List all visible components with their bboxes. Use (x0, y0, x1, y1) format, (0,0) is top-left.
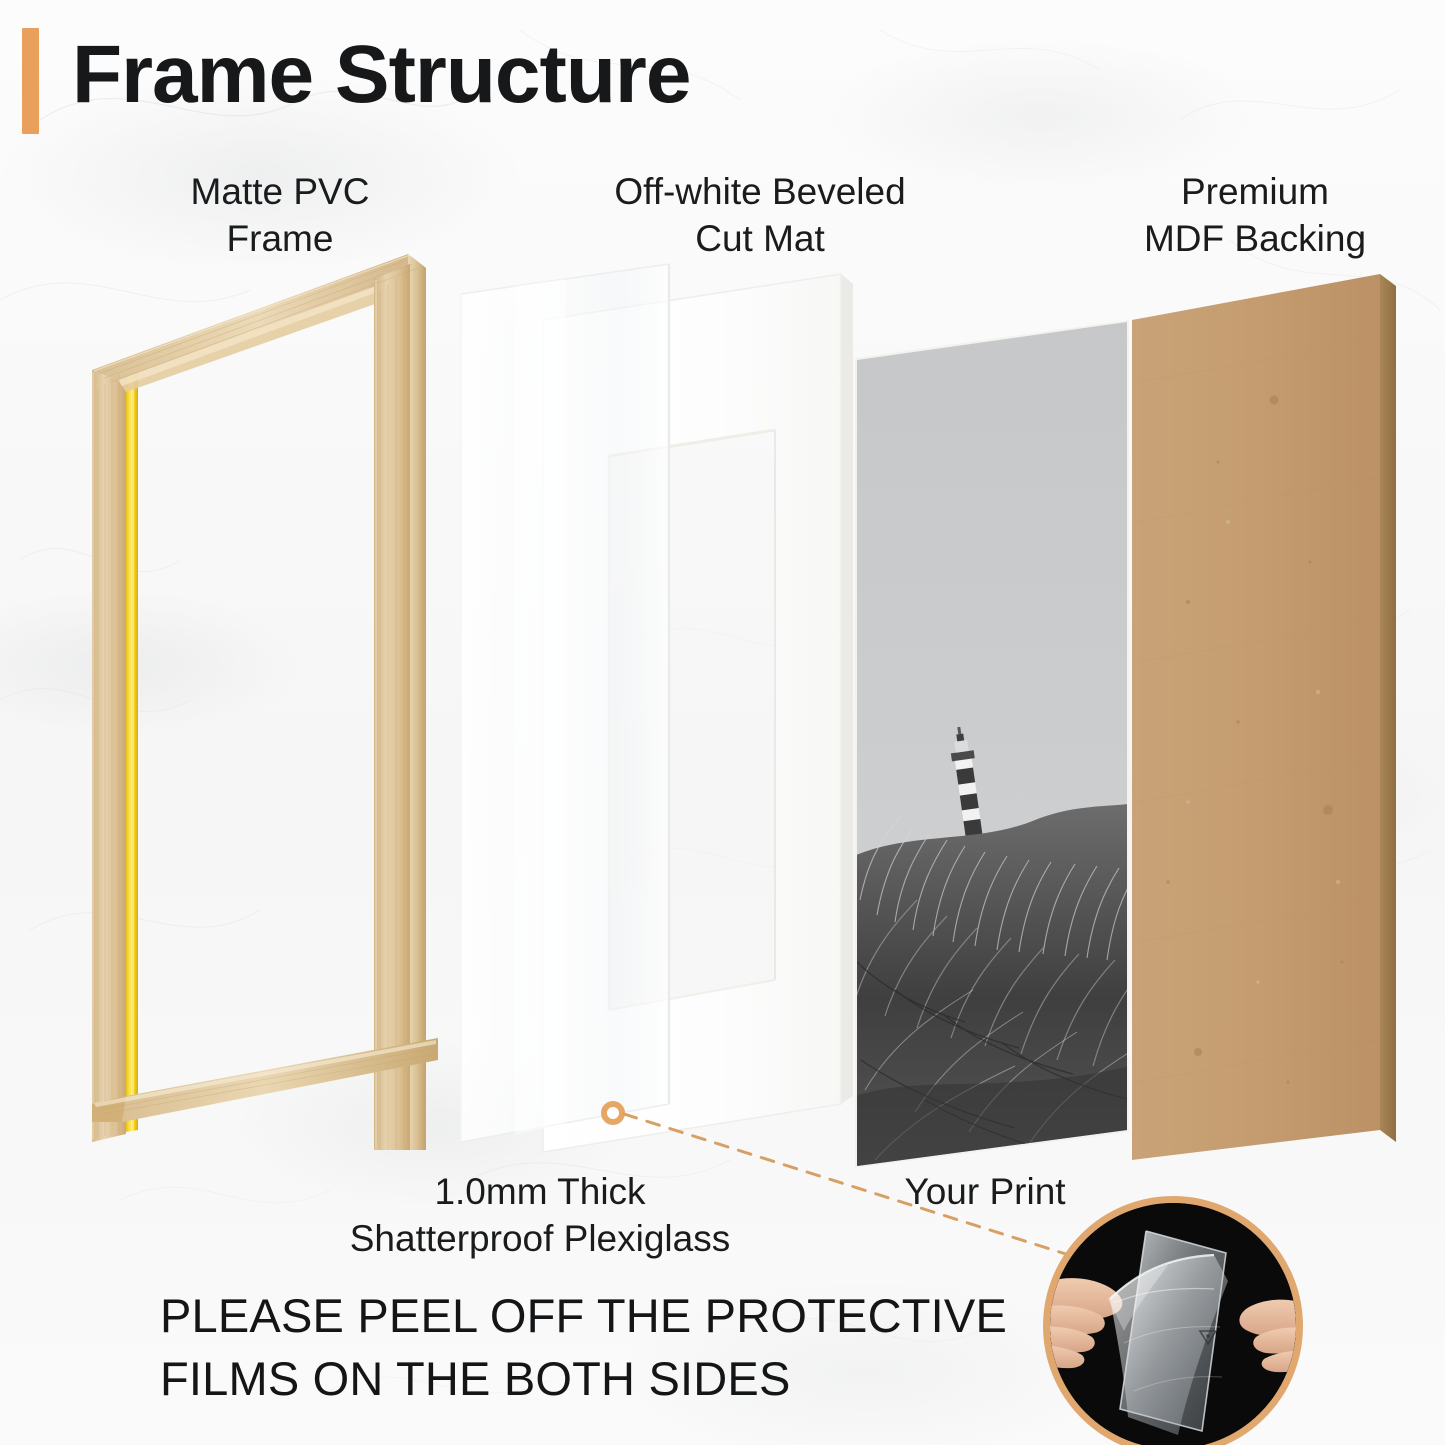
label-matte-pvc-frame: Matte PVC Frame (115, 168, 445, 263)
infographic-canvas: Frame Structure Matte PVC Frame Off-whit… (0, 0, 1445, 1445)
peel-notice-line2: FILMS ON THE BOTH SIDES (160, 1348, 1040, 1411)
layer-mdf-backing (1128, 262, 1438, 1162)
frame-bottom-rail (78, 950, 458, 1180)
page-title: Frame Structure (72, 30, 690, 120)
peel-notice-highlight: BOTH SIDES (504, 1348, 791, 1411)
layer-plexiglass (455, 258, 705, 1148)
layer-your-print (855, 300, 1145, 1170)
peel-notice-highlight-text: BOTH SIDES (504, 1352, 791, 1405)
title-accent-bar (22, 28, 39, 134)
label-mdf-backing: Premium MDF Backing (1090, 168, 1420, 263)
peel-notice-line2-prefix: FILMS ON THE (160, 1352, 504, 1405)
protective-film-inset-photo (1043, 1196, 1303, 1445)
peel-notice-line1: PLEASE PEEL OFF THE PROTECTIVE (160, 1285, 1040, 1348)
label-cut-mat: Off-white Beveled Cut Mat (555, 168, 965, 263)
peel-notice: PLEASE PEEL OFF THE PROTECTIVE FILMS ON … (160, 1285, 1040, 1410)
